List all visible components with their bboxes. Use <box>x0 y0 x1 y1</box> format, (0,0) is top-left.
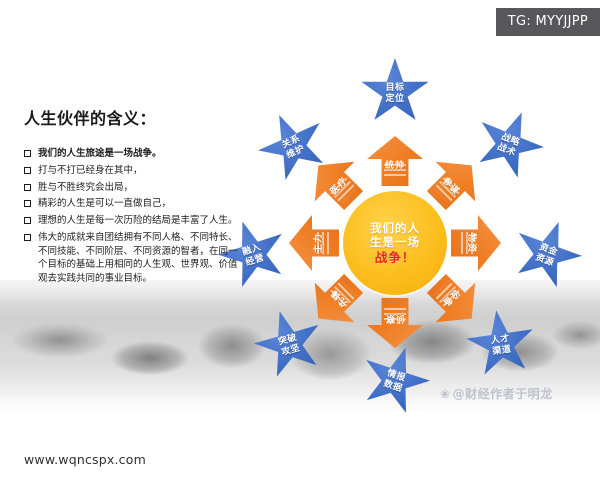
star-talent-channel: 人才 渠道 <box>462 305 541 382</box>
footer-bar: www.wqncspx.com <box>0 438 600 480</box>
star-label: 目标 定位 <box>360 58 430 126</box>
center-circle: 我们的人 生是一场 战争！ <box>343 191 447 295</box>
author-watermark: ❀@财经作者于明龙 <box>440 385 553 402</box>
bullet-list: 我们的人生旅途是一场战争。 打与不打已经身在其中， 胜与不胜终究会出局， 精彩的… <box>24 147 239 286</box>
list-item: 胜与不胜终究会出局， <box>24 181 239 195</box>
paw-icon: ❀ <box>440 387 451 401</box>
star-intelligence-data: 情报 数据 <box>351 337 439 423</box>
list-item: 我们的人生旅途是一场战争。 <box>24 147 239 161</box>
star-capital-resources: 资金 资源 <box>502 210 591 298</box>
arrow-wuzi: 物资 <box>451 215 501 271</box>
telegram-watermark-badge: TG: MYYJJPP <box>496 8 600 36</box>
center-line-1: 我们的人 <box>370 221 420 235</box>
arrow-label: 主力 <box>289 215 339 271</box>
list-item: 伟大的成就来自团结拥有不同人格、不同特长、不同技能、不同阶层、不同资源的智者，在… <box>24 231 239 286</box>
arrow-tongshuai: 统帅 <box>367 136 423 186</box>
arrow-label: 统帅 <box>367 136 423 186</box>
arrow-zhuli: 主力 <box>289 215 339 271</box>
text-panel: 人生伙伴的含义： 我们的人生旅途是一场战争。 打与不打已经身在其中， 胜与不胜终… <box>24 105 239 289</box>
star-goal-positioning: 目标 定位 <box>360 58 430 126</box>
list-item: 精彩的人生是可以一直做自己， <box>24 197 239 211</box>
list-item: 打与不打已经身在其中， <box>24 164 239 178</box>
center-line-2: 生是一场 <box>370 235 420 249</box>
radial-diagram: 统帅 参谋 物资 设备 侦察 先锋 主力 医疗 目标 <box>200 48 600 418</box>
list-item: 理想的人生是每一次历险的结局是丰富了人生。 <box>24 214 239 228</box>
star-label: 情报 数据 <box>351 337 439 423</box>
star-label: 资金 资源 <box>502 210 591 298</box>
footer-url: www.wqncspx.com <box>24 452 146 467</box>
center-line-3: 战争！ <box>375 250 416 266</box>
arrow-label: 物资 <box>451 215 501 271</box>
page-title: 人生伙伴的含义： <box>24 105 239 129</box>
star-label: 人才 渠道 <box>462 305 541 382</box>
watermark-text: @财经作者于明龙 <box>453 387 553 401</box>
